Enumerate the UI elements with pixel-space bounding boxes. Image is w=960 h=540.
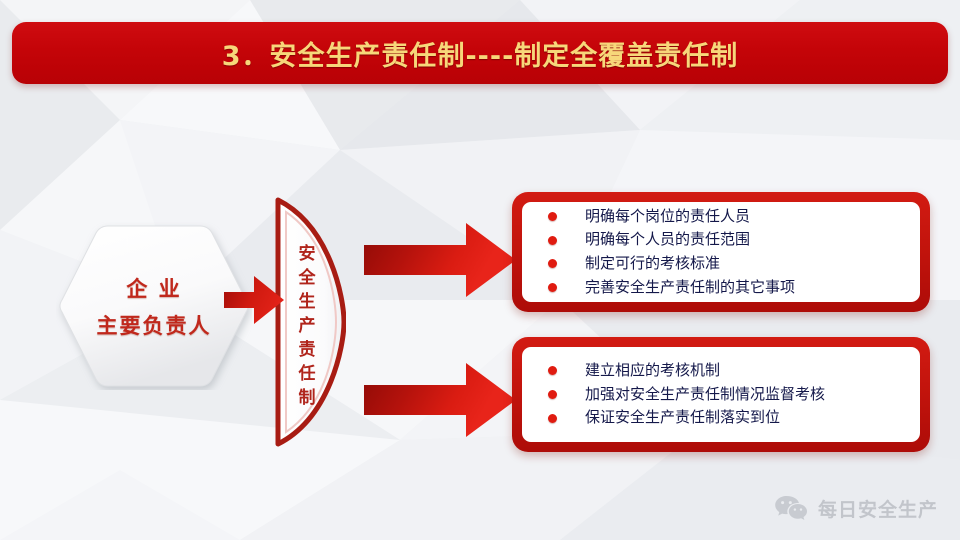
bullet-dot-icon [548, 366, 557, 375]
watermark: 每日安全生产 [774, 494, 938, 522]
small-connector-arrow-icon [222, 272, 286, 328]
watermark-label: 每日安全生产 [818, 495, 938, 522]
content-box-2[interactable]: 建立相应的考核机制 加强对安全生产责任制情况监督考核 保证安全生产责任制落实到位 [512, 337, 930, 452]
flow-arrow-icon-1 [362, 221, 518, 299]
content-box-2-inner: 建立相应的考核机制 加强对安全生产责任制情况监督考核 保证安全生产责任制落实到位 [522, 347, 920, 442]
wechat-icon [774, 494, 808, 522]
list-item: 保证安全生产责任制落实到位 [548, 407, 920, 429]
list-item: 明确每个岗位的责任人员 [548, 206, 920, 228]
content-box-1[interactable]: 明确每个岗位的责任人员 明确每个人员的责任范围 制定可行的考核标准 完善安全生产… [512, 192, 930, 312]
bullet-dot-icon [548, 414, 557, 423]
slide-title-bar: 3．安全生产责任制----制定全覆盖责任制 [12, 22, 948, 84]
slide-canvas: 3．安全生产责任制----制定全覆盖责任制 企 业 主要负责人 [0, 0, 960, 540]
bullet-dot-icon [548, 212, 557, 221]
bullet-dot-icon [548, 259, 557, 268]
list-item-label: 加强对安全生产责任制情况监督考核 [585, 384, 825, 406]
list-item: 明确每个人员的责任范围 [548, 229, 920, 251]
bullet-dot-icon [548, 283, 557, 292]
list-item-label: 完善安全生产责任制的其它事项 [585, 277, 795, 299]
bullet-dot-icon [548, 236, 557, 245]
flow-arrow-icon-2 [362, 361, 518, 439]
content-box-1-inner: 明确每个岗位的责任人员 明确每个人员的责任范围 制定可行的考核标准 完善安全生产… [522, 202, 920, 302]
list-item: 完善安全生产责任制的其它事项 [548, 277, 920, 299]
bullet-dot-icon [548, 390, 557, 399]
list-item: 加强对安全生产责任制情况监督考核 [548, 384, 920, 406]
list-item-label: 制定可行的考核标准 [585, 253, 720, 275]
list-item: 制定可行的考核标准 [548, 253, 920, 275]
page-title: 3．安全生产责任制----制定全覆盖责任制 [222, 34, 739, 73]
list-item-label: 建立相应的考核机制 [585, 360, 720, 382]
list-item-label: 明确每个人员的责任范围 [585, 229, 750, 251]
list-item: 建立相应的考核机制 [548, 360, 920, 382]
list-item-label: 明确每个岗位的责任人员 [585, 206, 750, 228]
list-item-label: 保证安全生产责任制落实到位 [585, 407, 780, 429]
